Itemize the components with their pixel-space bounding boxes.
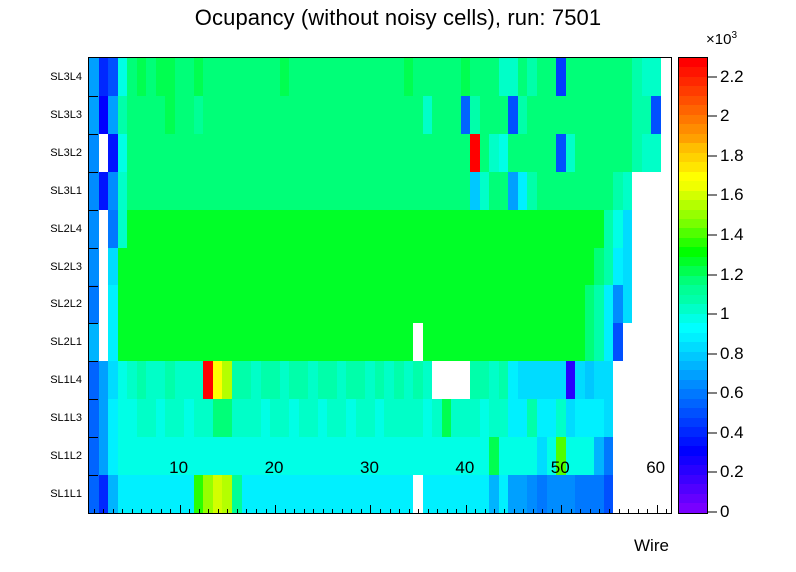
heatmap-cell <box>356 134 366 172</box>
heatmap-cell <box>213 134 223 172</box>
heatmap-cell <box>556 285 566 323</box>
heatmap-cell <box>89 210 99 248</box>
heatmap-cell <box>661 399 671 437</box>
heatmap-cell <box>99 285 109 323</box>
heatmap-cell <box>270 323 280 361</box>
y-axis-tick <box>89 248 98 249</box>
heatmap-cell <box>489 475 499 513</box>
heatmap-cell <box>499 210 509 248</box>
heatmap-cell <box>222 361 232 399</box>
heatmap-cell <box>413 248 423 286</box>
heatmap-cell <box>118 285 128 323</box>
heatmap-cell <box>289 285 299 323</box>
heatmap-cell <box>537 96 547 134</box>
heatmap-cell <box>118 399 128 437</box>
heatmap-cell <box>118 361 128 399</box>
colorbar-tick <box>708 512 717 513</box>
heatmap-cell <box>556 134 566 172</box>
heatmap-cell <box>537 437 547 475</box>
heatmap-cell <box>489 361 499 399</box>
heatmap-cell <box>642 323 652 361</box>
heatmap-cell <box>184 475 194 513</box>
heatmap-cell <box>404 361 414 399</box>
heatmap-cell <box>146 437 156 475</box>
heatmap-cell <box>337 96 347 134</box>
colorbar-band <box>679 361 707 370</box>
heatmap-cell <box>575 172 585 210</box>
heatmap-cell <box>108 134 118 172</box>
heatmap-cell <box>661 323 671 361</box>
colorbar-band <box>679 67 707 76</box>
heatmap-cell <box>661 58 671 96</box>
heatmap-cell <box>499 361 509 399</box>
colorbar-band <box>679 86 707 95</box>
heatmap-cell <box>518 323 528 361</box>
heatmap-cell <box>404 134 414 172</box>
heatmap-cell <box>499 134 509 172</box>
colorbar-band <box>679 484 707 493</box>
heatmap-cell <box>518 361 528 399</box>
heatmap-cell <box>118 323 128 361</box>
heatmap-cell <box>365 323 375 361</box>
heatmap-cell <box>613 285 623 323</box>
heatmap-cell <box>356 285 366 323</box>
heatmap-cell <box>527 134 537 172</box>
heatmap-cell <box>194 285 204 323</box>
colorbar-multiplier-base: ×10 <box>706 31 731 48</box>
heatmap-cell <box>413 210 423 248</box>
heatmap-cell <box>346 437 356 475</box>
heatmap-cell <box>280 399 290 437</box>
heatmap-row <box>89 96 671 134</box>
heatmap-cell <box>518 399 528 437</box>
heatmap-cell <box>242 248 252 286</box>
heatmap-cell <box>404 172 414 210</box>
x-axis-tick-label: 40 <box>455 458 474 478</box>
heatmap-cell <box>547 323 557 361</box>
heatmap-cell <box>146 475 156 513</box>
heatmap-cell <box>404 475 414 513</box>
heatmap-cell <box>404 399 414 437</box>
x-axis-minor-tick <box>141 509 142 514</box>
heatmap-cell <box>308 475 318 513</box>
heatmap-cell <box>527 248 537 286</box>
x-axis-minor-tick <box>409 509 410 514</box>
heatmap-cell <box>299 475 309 513</box>
colorbar-tick-label: 1.8 <box>720 146 744 166</box>
heatmap-cell <box>242 285 252 323</box>
heatmap-cell <box>527 361 537 399</box>
heatmap-cell <box>547 172 557 210</box>
heatmap-row <box>89 172 671 210</box>
heatmap-cell <box>527 323 537 361</box>
heatmap-cell <box>289 134 299 172</box>
x-axis-minor-tick <box>227 509 228 514</box>
heatmap-cell <box>308 172 318 210</box>
heatmap-cell <box>432 172 442 210</box>
heatmap-cell <box>165 475 175 513</box>
colorbar-band <box>679 323 707 332</box>
heatmap-cell <box>537 475 547 513</box>
heatmap-cell <box>213 399 223 437</box>
heatmap-cell <box>89 323 99 361</box>
heatmap-cell <box>184 58 194 96</box>
heatmap-cell <box>346 323 356 361</box>
colorbar-tick-label: 0 <box>720 502 729 522</box>
heatmap-cell <box>508 134 518 172</box>
heatmap-cell <box>384 475 394 513</box>
heatmap-cell <box>165 172 175 210</box>
heatmap-cell <box>356 248 366 286</box>
heatmap-cell <box>289 361 299 399</box>
heatmap-cell <box>499 172 509 210</box>
colorbar-band <box>679 172 707 181</box>
heatmap-row <box>89 210 671 248</box>
heatmap-cell <box>461 399 471 437</box>
heatmap-cell <box>118 58 128 96</box>
heatmap-cell <box>613 437 623 475</box>
heatmap-cell <box>118 248 128 286</box>
heatmap-cell <box>337 437 347 475</box>
heatmap-cell <box>547 134 557 172</box>
heatmap-cell <box>337 172 347 210</box>
heatmap-cell <box>280 361 290 399</box>
heatmap-cell <box>318 437 328 475</box>
heatmap-cell <box>527 437 537 475</box>
heatmap-cell <box>594 323 604 361</box>
heatmap-cell <box>432 361 442 399</box>
heatmap-cell <box>537 361 547 399</box>
heatmap-cell <box>165 285 175 323</box>
heatmap-cell <box>213 437 223 475</box>
heatmap-cell <box>375 172 385 210</box>
heatmap-cell <box>423 361 433 399</box>
heatmap-cell <box>270 96 280 134</box>
heatmap-cell <box>508 172 518 210</box>
heatmap-cell <box>613 248 623 286</box>
heatmap-cell <box>499 437 509 475</box>
x-axis-minor-tick <box>552 509 553 514</box>
heatmap-cell <box>308 399 318 437</box>
heatmap-cell <box>184 210 194 248</box>
heatmap-cell <box>394 134 404 172</box>
heatmap-cell <box>413 361 423 399</box>
colorbar-tick-label: 0.2 <box>720 462 744 482</box>
heatmap-cell <box>499 58 509 96</box>
heatmap-cell <box>470 361 480 399</box>
heatmap-cell <box>261 248 271 286</box>
heatmap-cell <box>480 399 490 437</box>
colorbar-band <box>679 181 707 190</box>
heatmap-cell <box>203 475 213 513</box>
heatmap-cell <box>566 323 576 361</box>
heatmap-cell <box>184 323 194 361</box>
heatmap-cell <box>127 437 137 475</box>
heatmap-cell <box>632 323 642 361</box>
heatmap-cell <box>394 437 404 475</box>
x-axis-tick-label: 10 <box>169 458 188 478</box>
heatmap-cell <box>137 361 147 399</box>
heatmap-cell <box>299 134 309 172</box>
heatmap-cell <box>365 285 375 323</box>
heatmap-cell <box>384 361 394 399</box>
x-axis-minor-tick <box>475 509 476 514</box>
heatmap-cell <box>518 134 528 172</box>
y-axis-tick <box>89 286 98 287</box>
heatmap-cell <box>375 285 385 323</box>
heatmap-cell <box>337 361 347 399</box>
colorbar-band <box>679 304 707 313</box>
colorbar-band <box>679 219 707 228</box>
heatmap-cell <box>99 437 109 475</box>
heatmap-cell <box>489 96 499 134</box>
heatmap-cell <box>470 210 480 248</box>
heatmap-cell <box>270 361 280 399</box>
heatmap-cell <box>508 285 518 323</box>
heatmap-cell <box>146 248 156 286</box>
heatmap-cell <box>613 134 623 172</box>
heatmap-cell <box>261 361 271 399</box>
heatmap-cell <box>156 323 166 361</box>
heatmap-cell <box>242 361 252 399</box>
heatmap-cell <box>632 248 642 286</box>
x-axis-minor-tick <box>399 509 400 514</box>
y-axis-label-sl3l3: SL3L3 <box>50 109 82 121</box>
heatmap-cell <box>461 134 471 172</box>
heatmap-cell <box>451 172 461 210</box>
heatmap-cell <box>222 172 232 210</box>
heatmap-cell <box>537 323 547 361</box>
heatmap-cell <box>280 323 290 361</box>
x-axis-minor-tick <box>285 509 286 514</box>
heatmap-cell <box>175 210 185 248</box>
heatmap-cell <box>423 96 433 134</box>
heatmap-cell <box>137 210 147 248</box>
x-axis-minor-tick <box>304 509 305 514</box>
heatmap-cell <box>623 134 633 172</box>
heatmap-cell <box>299 248 309 286</box>
heatmap-cell <box>518 58 528 96</box>
colorbar-band <box>679 399 707 408</box>
heatmap-cell <box>566 361 576 399</box>
heatmap-cell <box>585 323 595 361</box>
heatmap-cell <box>413 172 423 210</box>
heatmap-cell <box>251 323 261 361</box>
colorbar-band <box>679 238 707 247</box>
x-axis-minor-tick <box>494 509 495 514</box>
heatmap-cell <box>375 58 385 96</box>
heatmap-cell <box>346 285 356 323</box>
heatmap-cell <box>308 134 318 172</box>
heatmap-cell <box>461 361 471 399</box>
heatmap-cell <box>175 361 185 399</box>
heatmap-cell <box>642 58 652 96</box>
heatmap-cell <box>261 475 271 513</box>
colorbar-band <box>679 276 707 285</box>
heatmap-cell <box>156 172 166 210</box>
x-axis-title: Wire <box>634 536 669 556</box>
heatmap-cell <box>346 248 356 286</box>
heatmap-cell <box>632 58 642 96</box>
y-axis-label-sl1l2: SL1L2 <box>50 450 82 462</box>
heatmap-cell <box>651 248 661 286</box>
x-axis-tick-label: 30 <box>360 458 379 478</box>
heatmap-row <box>89 323 671 361</box>
heatmap-cell <box>89 172 99 210</box>
heatmap-cell <box>280 475 290 513</box>
heatmap-cell <box>604 172 614 210</box>
heatmap-cell <box>299 96 309 134</box>
heatmap-cell <box>518 210 528 248</box>
heatmap-cell <box>270 285 280 323</box>
heatmap-cell <box>413 134 423 172</box>
heatmap-cell <box>585 475 595 513</box>
heatmap-cell <box>299 172 309 210</box>
heatmap-cell <box>384 285 394 323</box>
heatmap-cell <box>213 248 223 286</box>
heatmap-cell <box>594 210 604 248</box>
colorbar-band <box>679 257 707 266</box>
x-axis-minor-tick <box>132 509 133 514</box>
heatmap-cell <box>384 134 394 172</box>
heatmap-cell <box>261 399 271 437</box>
heatmap-cell <box>451 58 461 96</box>
heatmap-cell <box>461 210 471 248</box>
heatmap-cell <box>489 399 499 437</box>
heatmap-cell <box>318 210 328 248</box>
y-axis-tick <box>89 172 98 173</box>
colorbar-band <box>679 503 707 512</box>
heatmap-cell <box>585 285 595 323</box>
heatmap-cell <box>375 475 385 513</box>
heatmap-cell <box>508 399 518 437</box>
heatmap-cell <box>194 361 204 399</box>
heatmap-cell <box>242 172 252 210</box>
heatmap-cell <box>661 210 671 248</box>
heatmap-cell <box>165 323 175 361</box>
heatmap-cell <box>566 210 576 248</box>
heatmap-cell <box>251 437 261 475</box>
heatmap-cell <box>261 134 271 172</box>
colorbar-band <box>679 314 707 323</box>
heatmap-cell <box>365 172 375 210</box>
heatmap-cell <box>651 210 661 248</box>
heatmap-cell <box>261 96 271 134</box>
heatmap-cell <box>156 361 166 399</box>
heatmap-cell <box>89 58 99 96</box>
heatmap-cell <box>594 134 604 172</box>
heatmap-cell <box>251 172 261 210</box>
heatmap-cell <box>585 172 595 210</box>
heatmap-cell <box>375 134 385 172</box>
heatmap-cell <box>318 323 328 361</box>
heatmap-cell <box>203 361 213 399</box>
heatmap-cell <box>394 58 404 96</box>
heatmap-cell <box>432 134 442 172</box>
heatmap-cell <box>575 134 585 172</box>
heatmap-cell <box>575 248 585 286</box>
x-axis-minor-tick <box>266 509 267 514</box>
heatmap-cell <box>442 210 452 248</box>
heatmap-cell <box>623 437 633 475</box>
heatmap-cell <box>356 323 366 361</box>
colorbar-band <box>679 456 707 465</box>
heatmap-cell <box>127 134 137 172</box>
heatmap-cell <box>632 285 642 323</box>
x-axis-minor-tick <box>504 509 505 514</box>
heatmap-cell <box>604 285 614 323</box>
heatmap-cell <box>442 134 452 172</box>
x-axis-tick-label: 60 <box>646 458 665 478</box>
heatmap-cell <box>432 248 442 286</box>
x-axis-minor-tick <box>590 509 591 514</box>
colorbar-band <box>679 408 707 417</box>
heatmap-cell <box>327 361 337 399</box>
heatmap-cell <box>89 134 99 172</box>
heatmap-cell <box>346 399 356 437</box>
y-axis-label-sl3l4: SL3L4 <box>50 71 82 83</box>
heatmap-cell <box>451 475 461 513</box>
heatmap-cell <box>261 323 271 361</box>
heatmap-cell <box>346 134 356 172</box>
y-axis-label-sl3l1: SL3L1 <box>50 185 82 197</box>
heatmap-cell <box>594 437 604 475</box>
heatmap-cell <box>451 134 461 172</box>
x-axis-minor-tick <box>189 509 190 514</box>
heatmap-cell <box>575 437 585 475</box>
heatmap-cell <box>251 361 261 399</box>
colorbar-tick <box>708 432 717 433</box>
heatmap-cell <box>537 210 547 248</box>
heatmap-cell <box>632 134 642 172</box>
heatmap-cell <box>642 134 652 172</box>
heatmap-cell <box>232 134 242 172</box>
heatmap-cell <box>623 285 633 323</box>
heatmap-cell <box>242 323 252 361</box>
heatmap-cell <box>432 399 442 437</box>
heatmap-cell <box>289 172 299 210</box>
heatmap-cell <box>480 475 490 513</box>
heatmap-cell <box>280 96 290 134</box>
heatmap-cell <box>642 96 652 134</box>
heatmap-cell <box>289 437 299 475</box>
heatmap-cell <box>613 323 623 361</box>
heatmap-cell <box>222 58 232 96</box>
heatmap-cell <box>108 172 118 210</box>
heatmap-cell <box>194 172 204 210</box>
heatmap-cell <box>137 172 147 210</box>
heatmap-cell <box>270 58 280 96</box>
x-axis-major-tick <box>370 505 371 514</box>
x-axis-minor-tick <box>94 509 95 514</box>
heatmap-cell <box>108 58 118 96</box>
heatmap-cell <box>423 285 433 323</box>
heatmap-cell <box>566 134 576 172</box>
heatmap-cell <box>137 437 147 475</box>
heatmap-cell <box>537 172 547 210</box>
colorbar-band <box>679 115 707 124</box>
heatmap-cell <box>404 285 414 323</box>
heatmap-cell <box>222 210 232 248</box>
heatmap-cell <box>461 323 471 361</box>
heatmap-cell <box>432 323 442 361</box>
heatmap-cell <box>156 134 166 172</box>
heatmap-cell <box>451 248 461 286</box>
heatmap-cell <box>413 399 423 437</box>
heatmap-cell <box>127 248 137 286</box>
colorbar-tick-label: 1.2 <box>720 265 744 285</box>
heatmap-cell <box>575 58 585 96</box>
